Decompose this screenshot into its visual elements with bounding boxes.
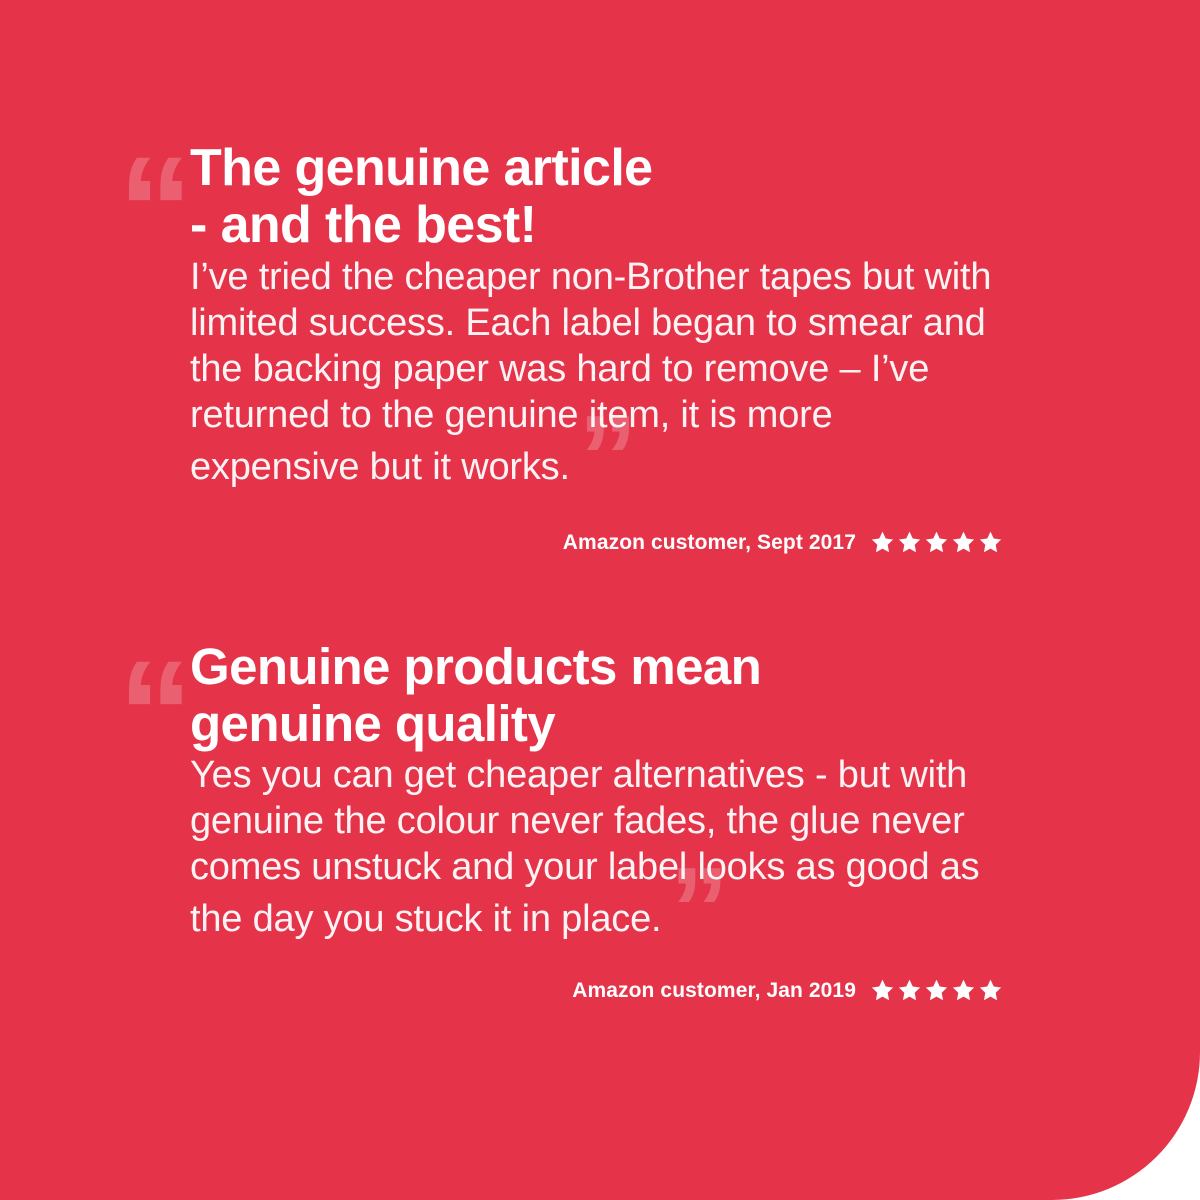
opening-quote-icon: “ [118, 134, 188, 214]
quote-body: “ Genuine products mean genuine quality … [0, 638, 1200, 942]
star-icon [870, 530, 895, 555]
testimonial-card: “ The genuine article - and the best! I’… [0, 0, 1200, 1200]
star-icon [951, 530, 976, 555]
quote-body: “ The genuine article - and the best! I’… [0, 140, 1200, 490]
star-icon [978, 978, 1003, 1003]
quote-text-wrapper: Yes you can get cheaper alternatives - b… [190, 752, 1000, 942]
testimonial-block: “ The genuine article - and the best! I’… [0, 140, 1200, 490]
star-icon [924, 978, 949, 1003]
rating-stars [870, 530, 1003, 555]
star-icon [978, 530, 1003, 555]
star-icon [924, 530, 949, 555]
rating-stars [870, 978, 1003, 1003]
attribution: Amazon customer, Jan 2019 [572, 978, 1003, 1003]
quote-text-wrapper: I’ve tried the cheaper non-Brother tapes… [190, 254, 1000, 490]
attribution: Amazon customer, Sept 2017 [563, 530, 1003, 555]
testimonial-headline: The genuine article - and the best! [190, 140, 1000, 254]
star-icon [870, 978, 895, 1003]
testimonial-block: “ Genuine products mean genuine quality … [0, 638, 1200, 942]
attribution-label: Amazon customer, Jan 2019 [572, 979, 856, 1003]
testimonial-quote: Yes you can get cheaper alternatives - b… [190, 751, 979, 940]
star-icon [951, 978, 976, 1003]
attribution-label: Amazon customer, Sept 2017 [563, 531, 856, 555]
testimonial-headline: Genuine products mean genuine quality [190, 638, 1000, 752]
star-icon [897, 978, 922, 1003]
star-icon [897, 530, 922, 555]
opening-quote-icon: “ [118, 638, 188, 718]
